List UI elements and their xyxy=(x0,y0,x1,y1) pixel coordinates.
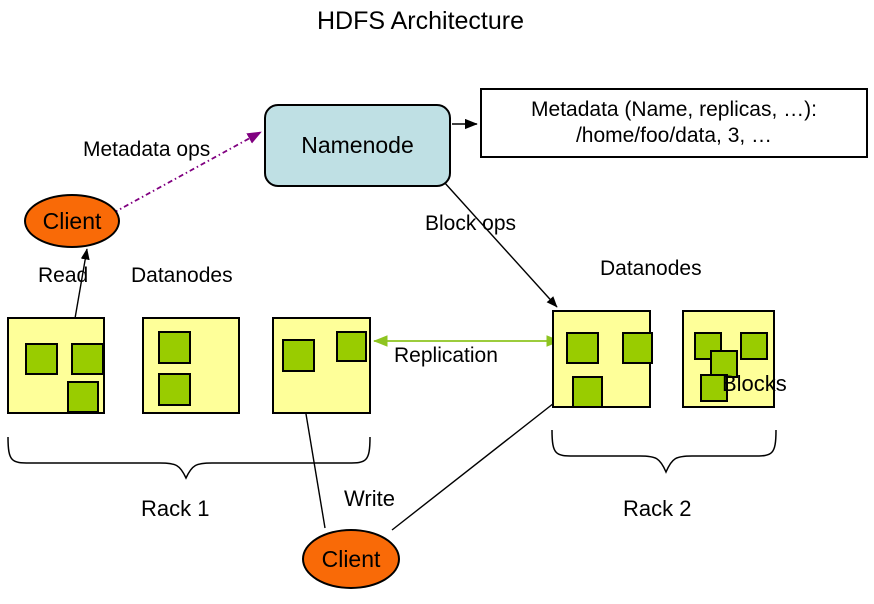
client-node-top[interactable]: Client xyxy=(24,194,120,248)
edge-block-ops xyxy=(444,182,557,307)
write-label: Write xyxy=(344,487,395,510)
edge-write-rack2 xyxy=(392,396,563,530)
read-label: Read xyxy=(38,265,88,287)
block xyxy=(336,331,367,362)
hdfs-architecture-diagram: HDFS Architecture Namenode Metadata (Nam… xyxy=(0,0,874,604)
block xyxy=(25,343,58,375)
datanodes-rack2-label: Datanodes xyxy=(600,258,702,280)
namenode-label: Namenode xyxy=(301,132,414,159)
datanode-rack1-3[interactable] xyxy=(272,317,371,414)
datanode-rack1-1[interactable] xyxy=(7,317,105,414)
block xyxy=(740,332,768,360)
rack2-brace xyxy=(552,430,776,472)
rack1-label: Rack 1 xyxy=(141,497,209,520)
block xyxy=(572,376,603,408)
block xyxy=(282,339,315,372)
block xyxy=(158,373,191,406)
block xyxy=(67,381,99,413)
metadata-line-2: /home/foo/data, 3, … xyxy=(576,123,772,149)
datanode-rack2-1[interactable] xyxy=(552,310,651,408)
namenode-box[interactable]: Namenode xyxy=(264,104,451,187)
block-ops-label: Block ops xyxy=(425,213,516,235)
block xyxy=(158,331,191,364)
client-top-label: Client xyxy=(43,208,102,235)
blocks-label: Blocks xyxy=(722,372,787,395)
block xyxy=(71,343,104,375)
page-title: HDFS Architecture xyxy=(317,8,524,34)
datanodes-rack1-label: Datanodes xyxy=(131,265,233,287)
metadata-line-1: Metadata (Name, replicas, …): xyxy=(531,97,817,123)
metadata-box: Metadata (Name, replicas, …): /home/foo/… xyxy=(480,88,868,158)
replication-label: Replication xyxy=(394,345,498,367)
block xyxy=(566,332,599,364)
rack2-label: Rack 2 xyxy=(623,497,691,520)
client-bottom-label: Client xyxy=(322,546,381,573)
client-node-bottom[interactable]: Client xyxy=(302,529,400,589)
datanode-rack1-2[interactable] xyxy=(142,317,240,414)
block xyxy=(622,332,653,364)
metadata-ops-label: Metadata ops xyxy=(83,139,210,161)
